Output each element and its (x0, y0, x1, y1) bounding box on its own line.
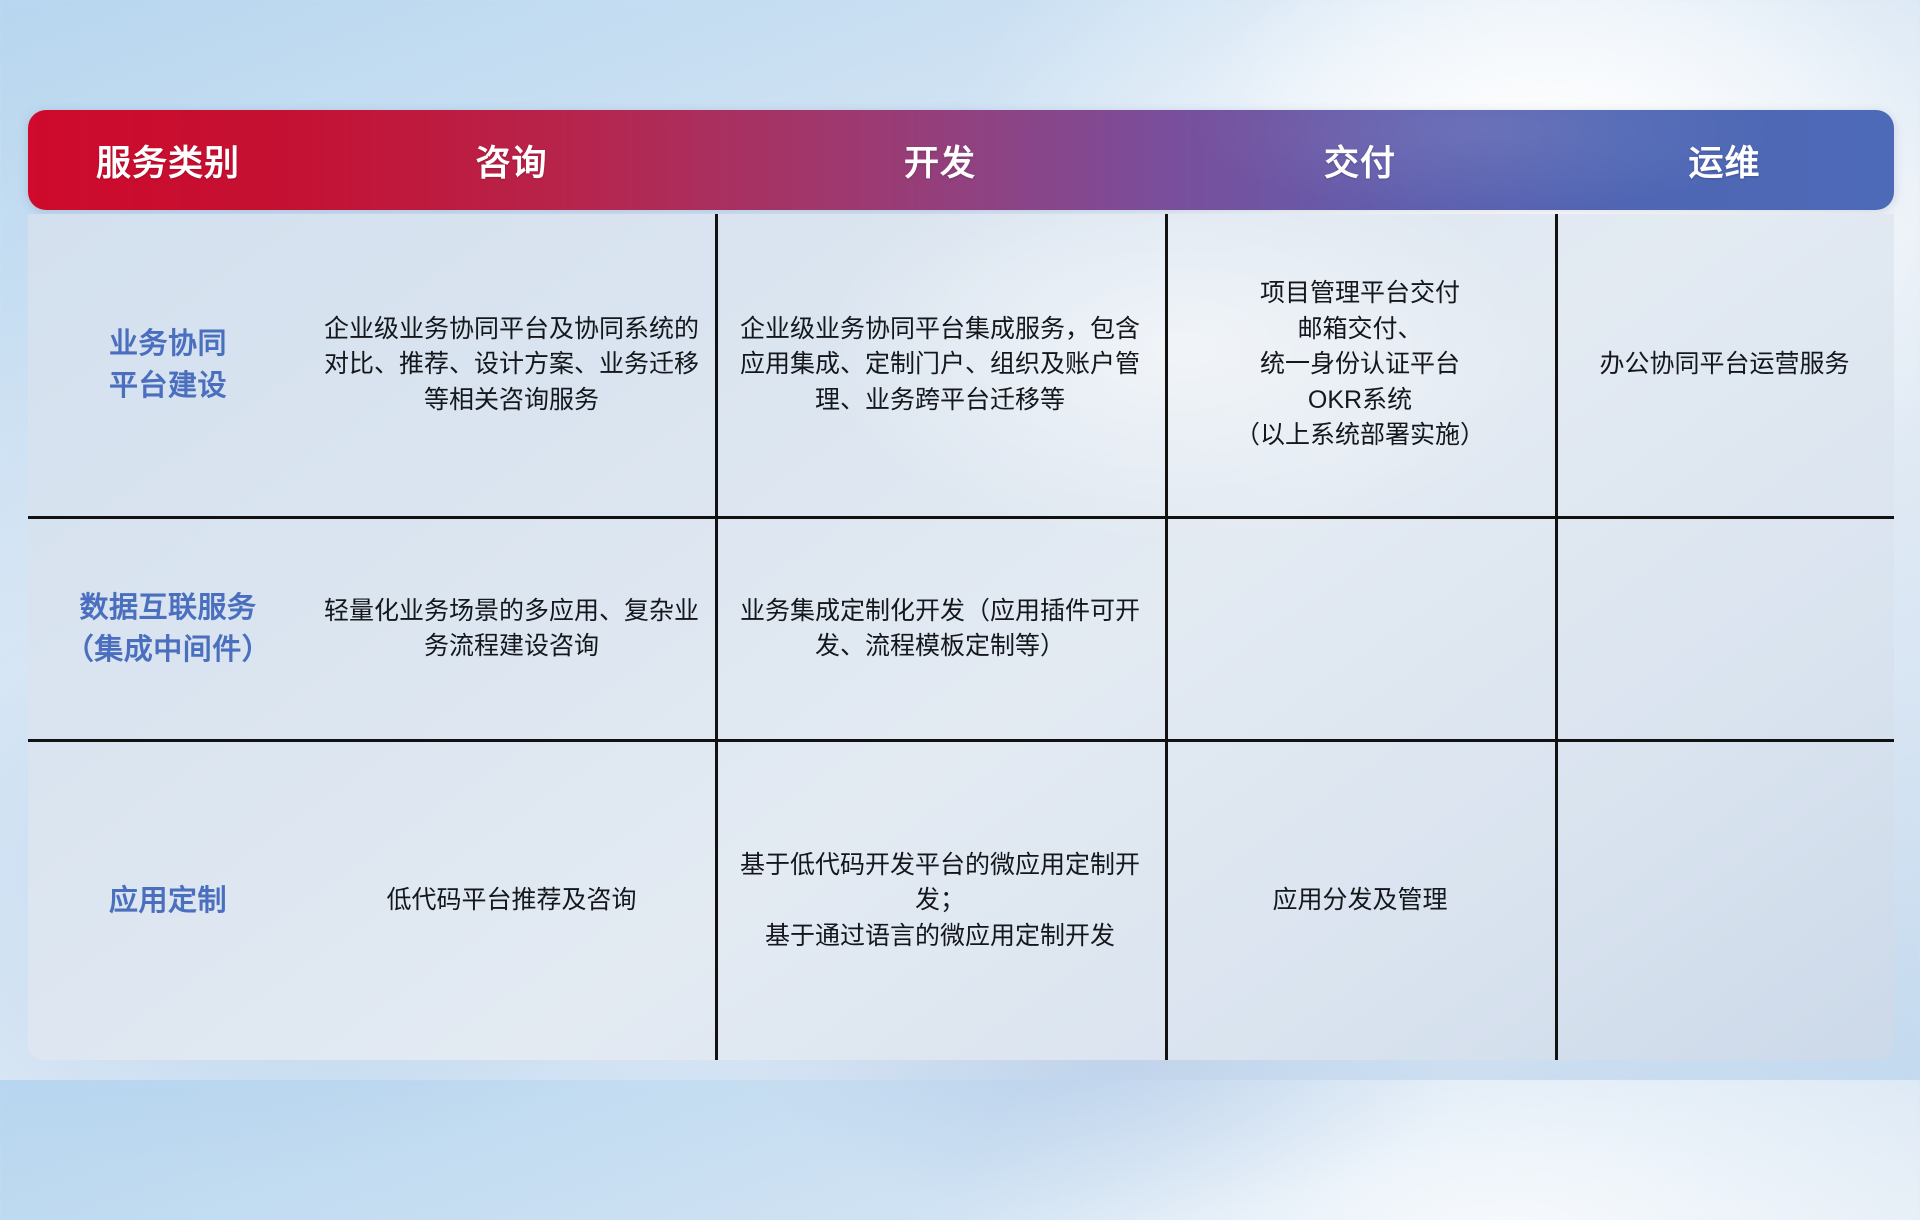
cell-delivery: 应用分发及管理 (1165, 742, 1555, 1060)
cell-consulting-text: 低代码平台推荐及咨询 (386, 883, 636, 919)
row-category-cell: 数据互联服务 （集成中间件） (28, 519, 308, 739)
cell-development-text: 企业级业务协同平台集成服务，包含应用集成、定制门户、组织及账户管理、业务跨平台迁… (731, 312, 1149, 419)
column-header-operations: 运维 (1555, 135, 1894, 186)
cell-delivery-text: 项目管理平台交付 邮箱交付、 统一身份认证平台 OKR系统 （以上系统部署实施） (1235, 276, 1485, 454)
row-category-line-2: （集成中间件） (65, 629, 272, 671)
slide-canvas: 服务类别 咨询 开发 交付 运维 业务协同 平台建设 企业级业务协同平台及协同系 (0, 0, 1920, 1080)
cell-delivery-text: 应用分发及管理 (1272, 883, 1447, 919)
cell-development-text: 业务集成定制化开发（应用插件可开发、流程模板定制等） (731, 594, 1149, 665)
cell-operations (1555, 742, 1894, 1060)
table-body: 业务协同 平台建设 企业级业务协同平台及协同系统的对比、推荐、设计方案、业务迁移… (28, 214, 1894, 1060)
column-header-delivery: 交付 (1165, 135, 1555, 186)
cell-consulting: 轻量化业务场景的多应用、复杂业务流程建设咨询 (308, 519, 715, 739)
cell-delivery: 项目管理平台交付 邮箱交付、 统一身份认证平台 OKR系统 （以上系统部署实施） (1165, 214, 1555, 516)
row-category-line-1: 业务协同 (109, 323, 227, 365)
row-category-line-2: 平台建设 (109, 365, 227, 407)
table-row: 应用定制 低代码平台推荐及咨询 基于低代码开发平台的微应用定制开发； 基于通过语… (28, 742, 1894, 1060)
cell-operations: 办公协同平台运营服务 (1555, 214, 1894, 516)
cell-development: 业务集成定制化开发（应用插件可开发、流程模板定制等） (715, 519, 1165, 739)
column-header-consulting: 咨询 (308, 135, 715, 186)
row-category-label: 应用定制 (109, 880, 227, 922)
row-category-label: 数据互联服务 （集成中间件） (65, 587, 272, 671)
row-category-line-1: 数据互联服务 (65, 587, 272, 629)
cell-development: 企业级业务协同平台集成服务，包含应用集成、定制门户、组织及账户管理、业务跨平台迁… (715, 214, 1165, 516)
column-header-service-category: 服务类别 (28, 135, 308, 186)
cell-consulting: 企业级业务协同平台及协同系统的对比、推荐、设计方案、业务迁移等相关咨询服务 (308, 214, 715, 516)
row-category-cell: 业务协同 平台建设 (28, 214, 308, 516)
cell-development-text: 基于低代码开发平台的微应用定制开发； 基于通过语言的微应用定制开发 (731, 848, 1149, 955)
cell-consulting-text: 轻量化业务场景的多应用、复杂业务流程建设咨询 (324, 594, 699, 665)
row-category-cell: 应用定制 (28, 742, 308, 1060)
row-category-line-1: 应用定制 (109, 880, 227, 922)
cell-development: 基于低代码开发平台的微应用定制开发； 基于通过语言的微应用定制开发 (715, 742, 1165, 1060)
table-header-row: 服务类别 咨询 开发 交付 运维 (28, 110, 1894, 210)
cell-delivery (1165, 519, 1555, 739)
cell-operations-text: 办公协同平台运营服务 (1599, 347, 1849, 383)
column-header-development: 开发 (715, 135, 1165, 186)
cell-consulting-text: 企业级业务协同平台及协同系统的对比、推荐、设计方案、业务迁移等相关咨询服务 (324, 312, 699, 419)
row-category-label: 业务协同 平台建设 (109, 323, 227, 407)
cell-operations (1555, 519, 1894, 739)
table-row: 业务协同 平台建设 企业级业务协同平台及协同系统的对比、推荐、设计方案、业务迁移… (28, 214, 1894, 519)
table-row: 数据互联服务 （集成中间件） 轻量化业务场景的多应用、复杂业务流程建设咨询 业务… (28, 519, 1894, 742)
cell-consulting: 低代码平台推荐及咨询 (308, 742, 715, 1060)
service-matrix-table: 服务类别 咨询 开发 交付 运维 业务协同 平台建设 企业级业务协同平台及协同系 (28, 110, 1894, 1060)
